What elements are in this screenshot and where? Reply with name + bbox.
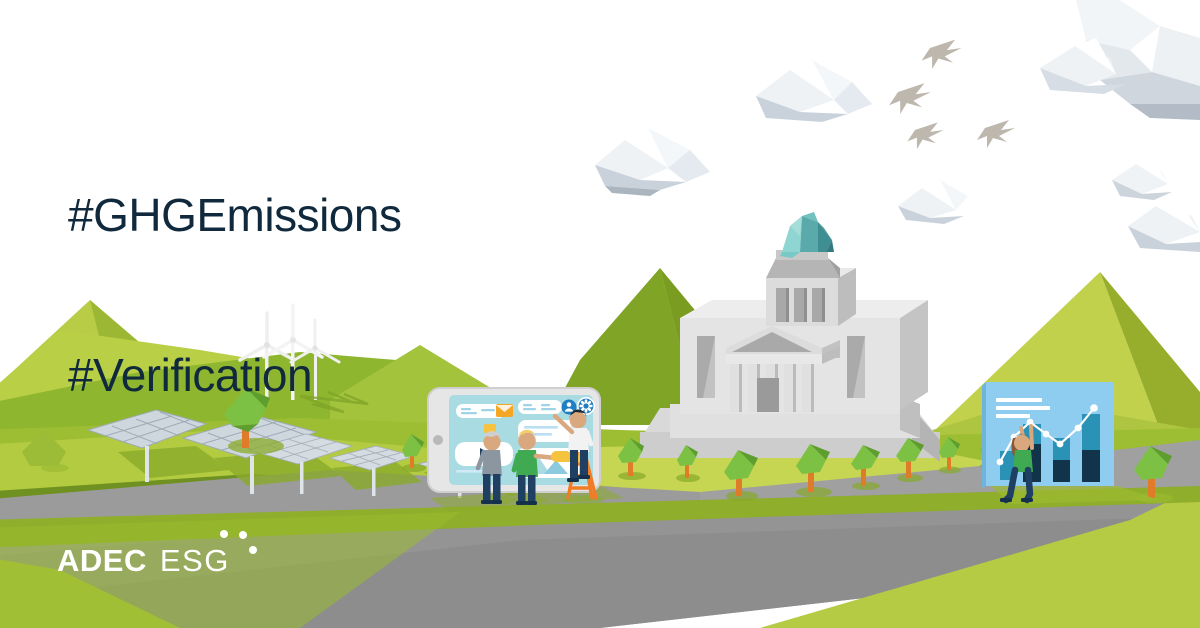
illustration-canvas: #GHGEmissions #Verification ADEC ESG [0,0,1200,628]
tablet-home-button [433,435,443,445]
scene-illustration [0,0,1200,628]
bar-4 [1082,414,1100,482]
envelope-icon [496,404,513,417]
dashboard-edge [982,382,986,488]
building-main-right [900,300,928,410]
dome-base [766,258,840,278]
